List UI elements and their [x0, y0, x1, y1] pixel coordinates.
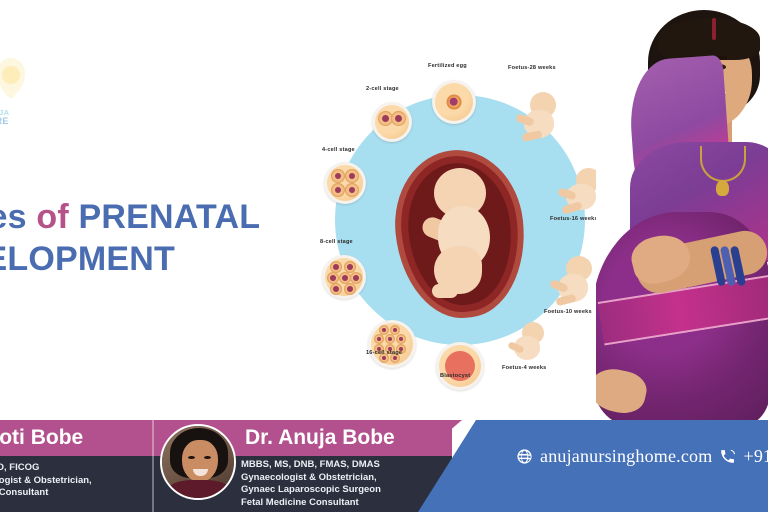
logo-line-2: CARE [0, 116, 9, 126]
label-foetus-10-weeks: Foetus-10 weeks [544, 309, 592, 316]
doctor-right-credential-2: Gynaecologist & Obstetrician, [241, 472, 377, 485]
stage-foetus-10-weeks [550, 256, 600, 308]
cell-blob [331, 169, 345, 183]
central-fetus-illustration [418, 168, 504, 300]
cell-blob [345, 169, 359, 183]
cell-blob [345, 183, 359, 197]
globe-icon [516, 448, 533, 465]
photo-sindoor [712, 18, 716, 40]
cell-blob [374, 334, 384, 344]
avatar-eye-right [204, 456, 211, 459]
avatar-clothing [168, 480, 230, 500]
doctor-right-avatar [160, 424, 236, 500]
doctor-left-name: Dr. Jyoti Bobe [0, 420, 83, 456]
headline-line-1: Stages of PRENATAL [0, 196, 274, 238]
cell-blob [330, 283, 342, 295]
doctor-left-credential-2: Gynaecologist & Obstetrician, [0, 475, 92, 488]
doctor-right-name: Dr. Anuja Bobe [245, 420, 395, 456]
cell-blob [344, 283, 356, 295]
label-foetus-16-weeks: Foetus-16 weeks [550, 216, 598, 223]
website-text[interactable]: anujanursinghome.com [540, 446, 712, 467]
cell-blob [350, 272, 362, 284]
stage-two-cell [372, 102, 412, 142]
doctor-right-credential-1: MBBS, MS, DNB, FMAS, DMAS [241, 459, 380, 472]
baby-limb [561, 201, 582, 215]
doctor-divider [152, 420, 154, 512]
cell-blob [391, 111, 406, 126]
doctor-right-credential-4: Fetal Medicine Consultant [241, 497, 359, 510]
label-two-cell-stage: 2-cell stage [366, 86, 399, 93]
phone-icon [719, 448, 736, 465]
stage-foetus-28-weeks [516, 92, 564, 144]
page-title: Stages of PRENATAL DEVELOPMENT [0, 196, 274, 280]
photo-pendant [716, 180, 729, 196]
headline-prefix: Stages [0, 198, 27, 236]
label-fertilized-egg: Fertilized egg [428, 63, 467, 70]
stage-eight-cell [322, 255, 366, 299]
fertilized-egg-nucleus [447, 95, 462, 110]
doctor-left-credential-3: Infertility Consultant [0, 487, 48, 500]
pregnant-woman-photo [596, 0, 768, 452]
stage-blastocyst [436, 342, 484, 390]
fetus-foot [432, 284, 458, 298]
label-blastocyst: Blastocyst [440, 373, 470, 380]
label-four-cell-stage: 4-cell stage [322, 147, 355, 154]
label-foetus-4-weeks: Foetus-4 weeks [502, 365, 546, 372]
stage-foetus-4-weeks [508, 320, 552, 364]
clinic-logo: ANUJA CARE [0, 52, 46, 138]
stage-four-cell [324, 162, 366, 204]
photo-hair-front [658, 18, 760, 60]
cell-blob [396, 334, 406, 344]
doctor-left-credential-1: MBBS, MD, FICOG [0, 462, 39, 475]
contact-row: anujanursinghome.com +91 9 [516, 446, 768, 467]
cell-blob [385, 334, 395, 344]
cell-blob [331, 183, 345, 197]
headline-suffix: PRENATAL [79, 198, 261, 236]
contact-panel: anujanursinghome.com +91 9 [418, 420, 768, 512]
avatar-eye-left [188, 456, 195, 459]
headline-line-2: DEVELOPMENT [0, 238, 274, 280]
doctor-right-credential-3: Gynaec Laparoscopic Surgeon [241, 484, 381, 497]
stage-fertilized-egg [432, 80, 476, 124]
baby-limb [555, 294, 576, 307]
logo-mark-icon [0, 52, 34, 104]
prenatal-development-diagram: Fertilized egg 2-cell stage 4-cell stage [300, 40, 620, 390]
banner-canvas: ANUJA CARE Stages of PRENATAL DEVELOPMEN… [0, 0, 768, 512]
label-foetus-28-weeks: Foetus-28 weeks [508, 65, 556, 72]
label-eight-cell-stage: 8-cell stage [320, 239, 353, 246]
headline-emphasis: of [36, 198, 69, 236]
baby-limb [521, 130, 542, 142]
label-sixteen-cell-stage: 16-cell stage [366, 350, 402, 357]
logo-wordmark: ANUJA CARE [0, 108, 46, 126]
stage-sixteen-cell [368, 320, 416, 368]
four-cell-membrane [324, 162, 366, 204]
phone-text[interactable]: +91 9 [743, 446, 768, 467]
